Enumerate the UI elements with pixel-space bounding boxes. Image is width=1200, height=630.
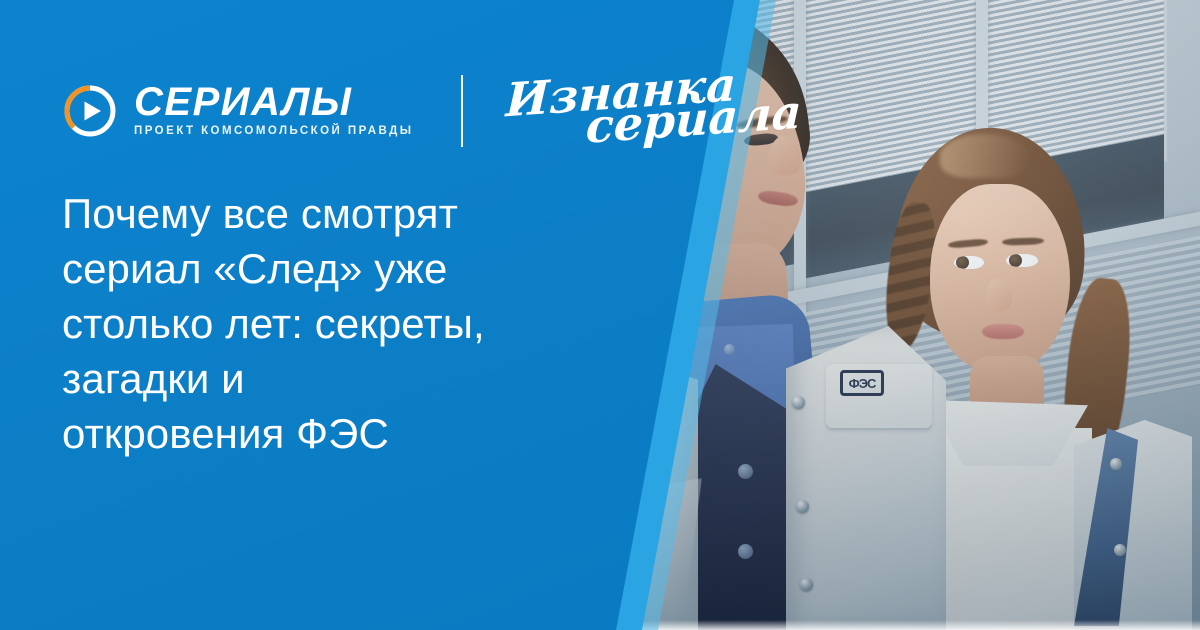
headline-line: столько лет: секреты,: [62, 296, 582, 351]
headline-line: загадки и: [62, 351, 582, 406]
brand-tagline: ПРОЕКТ КОМСОМОЛЬСКОЙ ПРАВДЫ: [134, 125, 413, 137]
logo-divider: [461, 75, 463, 147]
brand-wordmark: СЕРИАЛЫ: [134, 80, 352, 124]
ear: [672, 154, 702, 196]
headline-line: Почему все смотрят: [62, 186, 582, 241]
earring: [680, 188, 691, 199]
left-content: СЕРИАЛЫ ПРОЕКТ КОМСОМОЛЬСКОЙ ПРАВДЫ Изна…: [0, 0, 660, 630]
photo-bottom-fade: [620, 620, 1200, 630]
logo-row: СЕРИАЛЫ ПРОЕКТ КОМСОМОЛЬСКОЙ ПРАВДЫ Изна…: [62, 74, 769, 148]
headline-line: сериал «След» уже: [62, 241, 582, 296]
headline-line: откровения ФЭС: [62, 406, 582, 461]
social-share-card: ФЭС: [0, 0, 1200, 630]
play-circle-icon[interactable]: [62, 83, 118, 139]
page-title: Почему все смотрят сериал «След» уже сто…: [62, 186, 582, 461]
brand-block: СЕРИАЛЫ ПРОЕКТ КОМСОМОЛЬСКОЙ ПРАВДЫ: [134, 83, 413, 139]
script-line-2: сериала: [585, 89, 804, 150]
izanka-seriala-logo[interactable]: Изнанка сериала: [505, 63, 772, 159]
